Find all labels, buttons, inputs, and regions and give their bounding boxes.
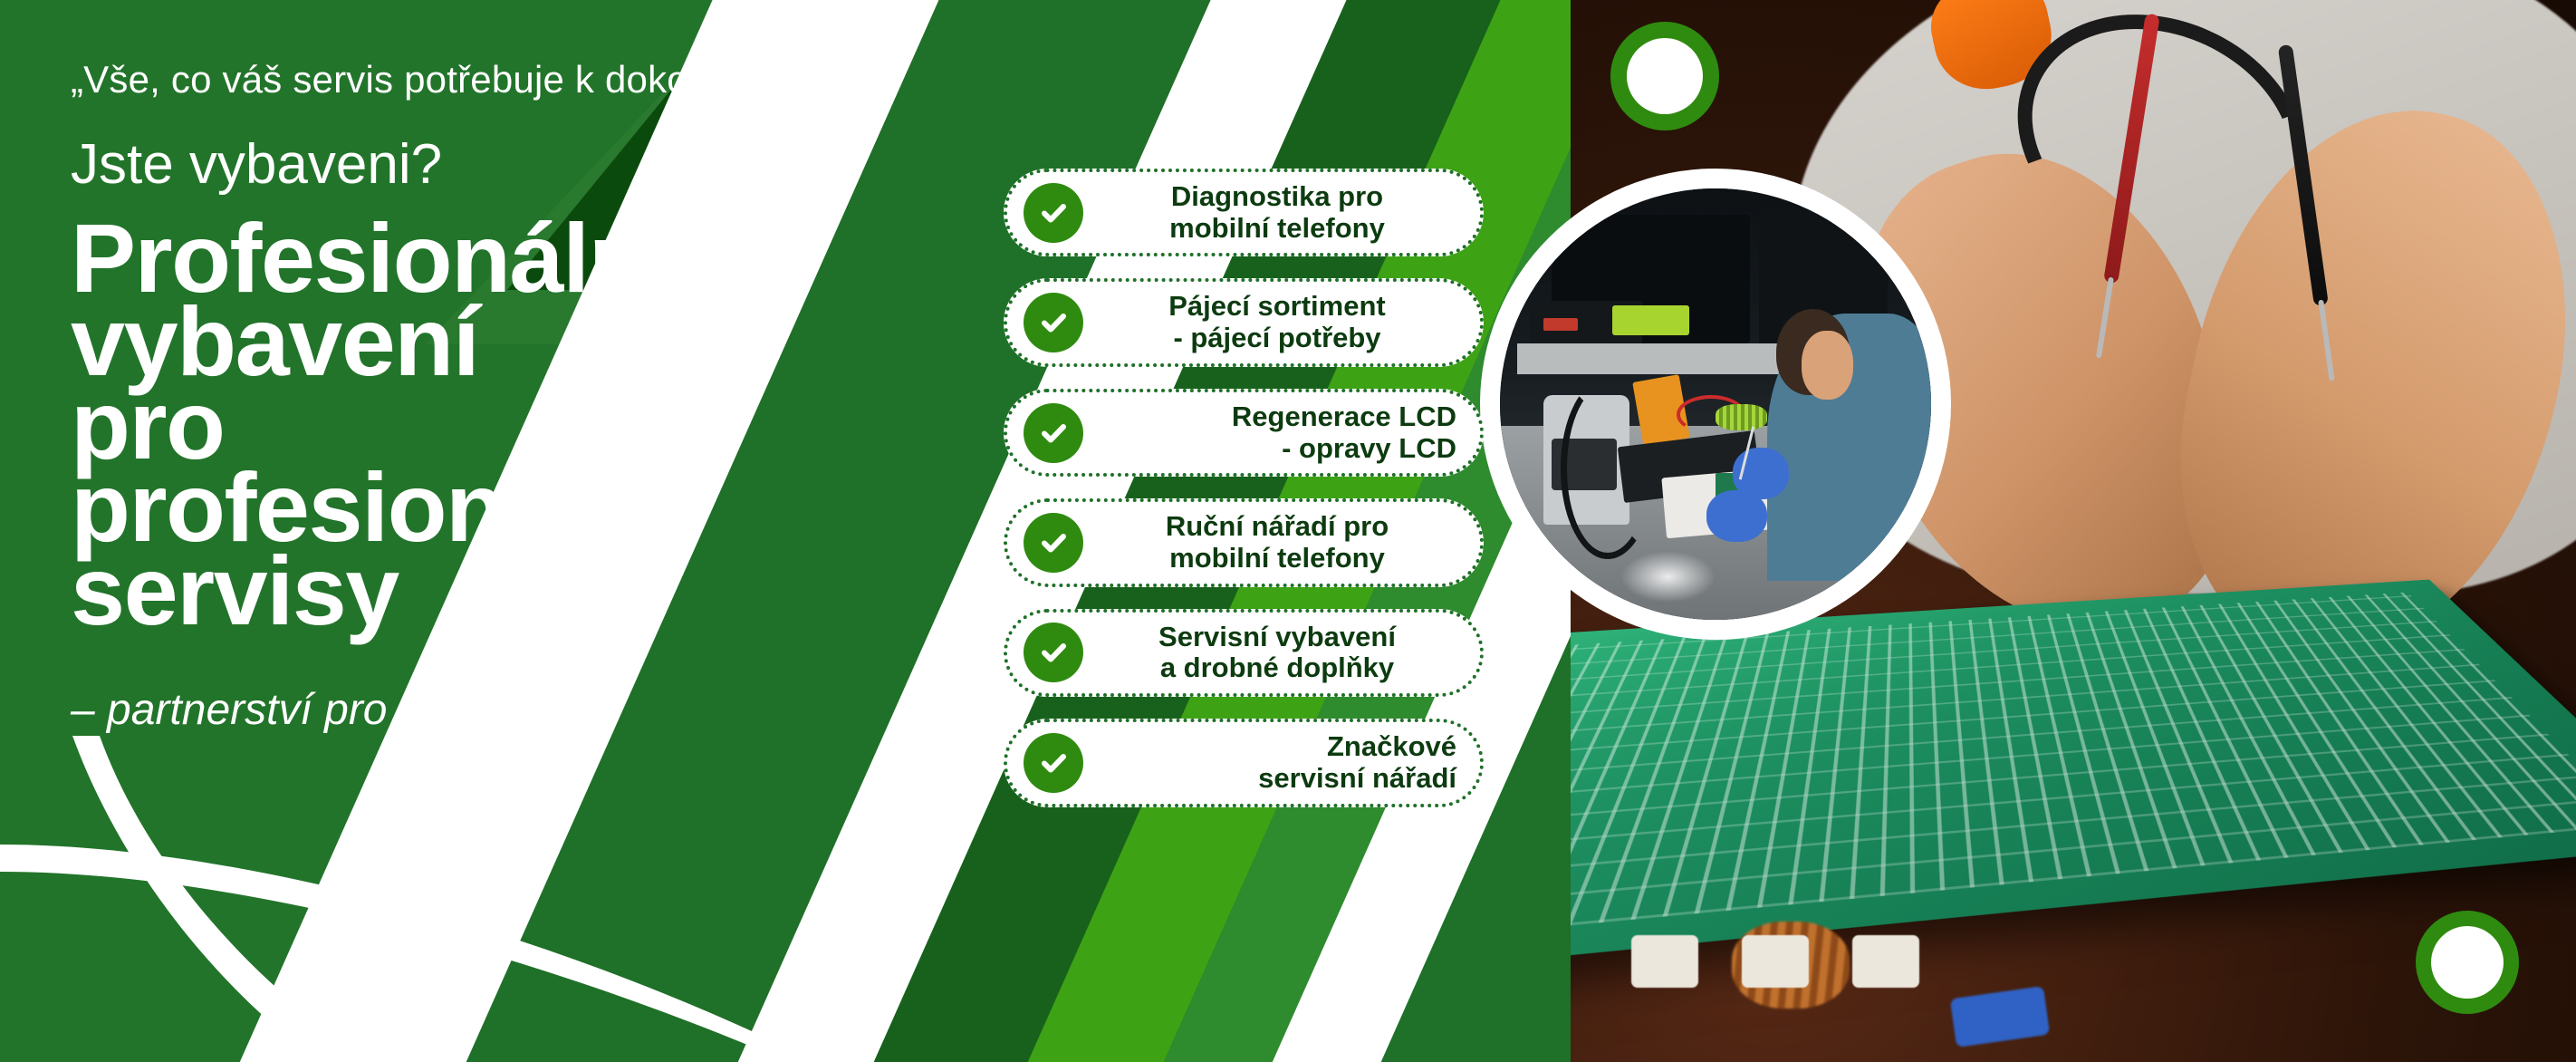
feature-pill[interactable]: Regenerace LCD - opravy LCD (1004, 389, 1484, 477)
tagline: „Vše, co váš servis potřebuje k dokonalo… (71, 58, 976, 101)
check-icon (1024, 733, 1083, 793)
subheadline: Jste vybaveni? (71, 132, 976, 197)
feature-pill-label: Servisní vybavení a drobné doplňky (1098, 622, 1456, 684)
feature-pill-label: Regenerace LCD - opravy LCD (1098, 401, 1456, 464)
feature-pill[interactable]: Značkové servisní nářadí (1004, 719, 1484, 806)
check-icon (1024, 513, 1083, 573)
check-icon (1024, 293, 1083, 352)
feature-pill[interactable]: Ruční nářadí pro mobilní telefony (1004, 498, 1484, 586)
page-title: Profesionální vybavení pro profesionální… (71, 217, 976, 632)
feature-pill-label: Diagnostika pro mobilní telefony (1098, 181, 1456, 244)
feature-pill[interactable]: Pájecí sortiment - pájecí potřeby (1004, 278, 1484, 366)
promo-banner: „Vše, co váš servis potřebuje k dokonalo… (0, 0, 2576, 1062)
inset-photo-circle (1480, 169, 1951, 640)
feature-pill-label: Značkové servisní nářadí (1098, 731, 1456, 794)
feature-pill[interactable]: Diagnostika pro mobilní telefony (1004, 169, 1484, 256)
check-icon (1024, 403, 1083, 463)
check-icon (1024, 623, 1083, 682)
feature-pill-label: Ruční nářadí pro mobilní telefony (1098, 511, 1456, 574)
check-icon (1024, 183, 1083, 243)
decorative-circle-bottom (2431, 926, 2504, 999)
headline-block: „Vše, co váš servis potřebuje k dokonalo… (71, 58, 976, 735)
feature-pill-label: Pájecí sortiment - pájecí potřeby (1098, 291, 1456, 353)
feature-pill[interactable]: Servisní vybavení a drobné doplňky (1004, 609, 1484, 697)
feature-pill-list: Diagnostika pro mobilní telefony Pájecí … (1004, 169, 1484, 829)
footline: – partnerství pro úspěch! (71, 685, 976, 735)
decorative-circle-top (1627, 38, 1703, 114)
